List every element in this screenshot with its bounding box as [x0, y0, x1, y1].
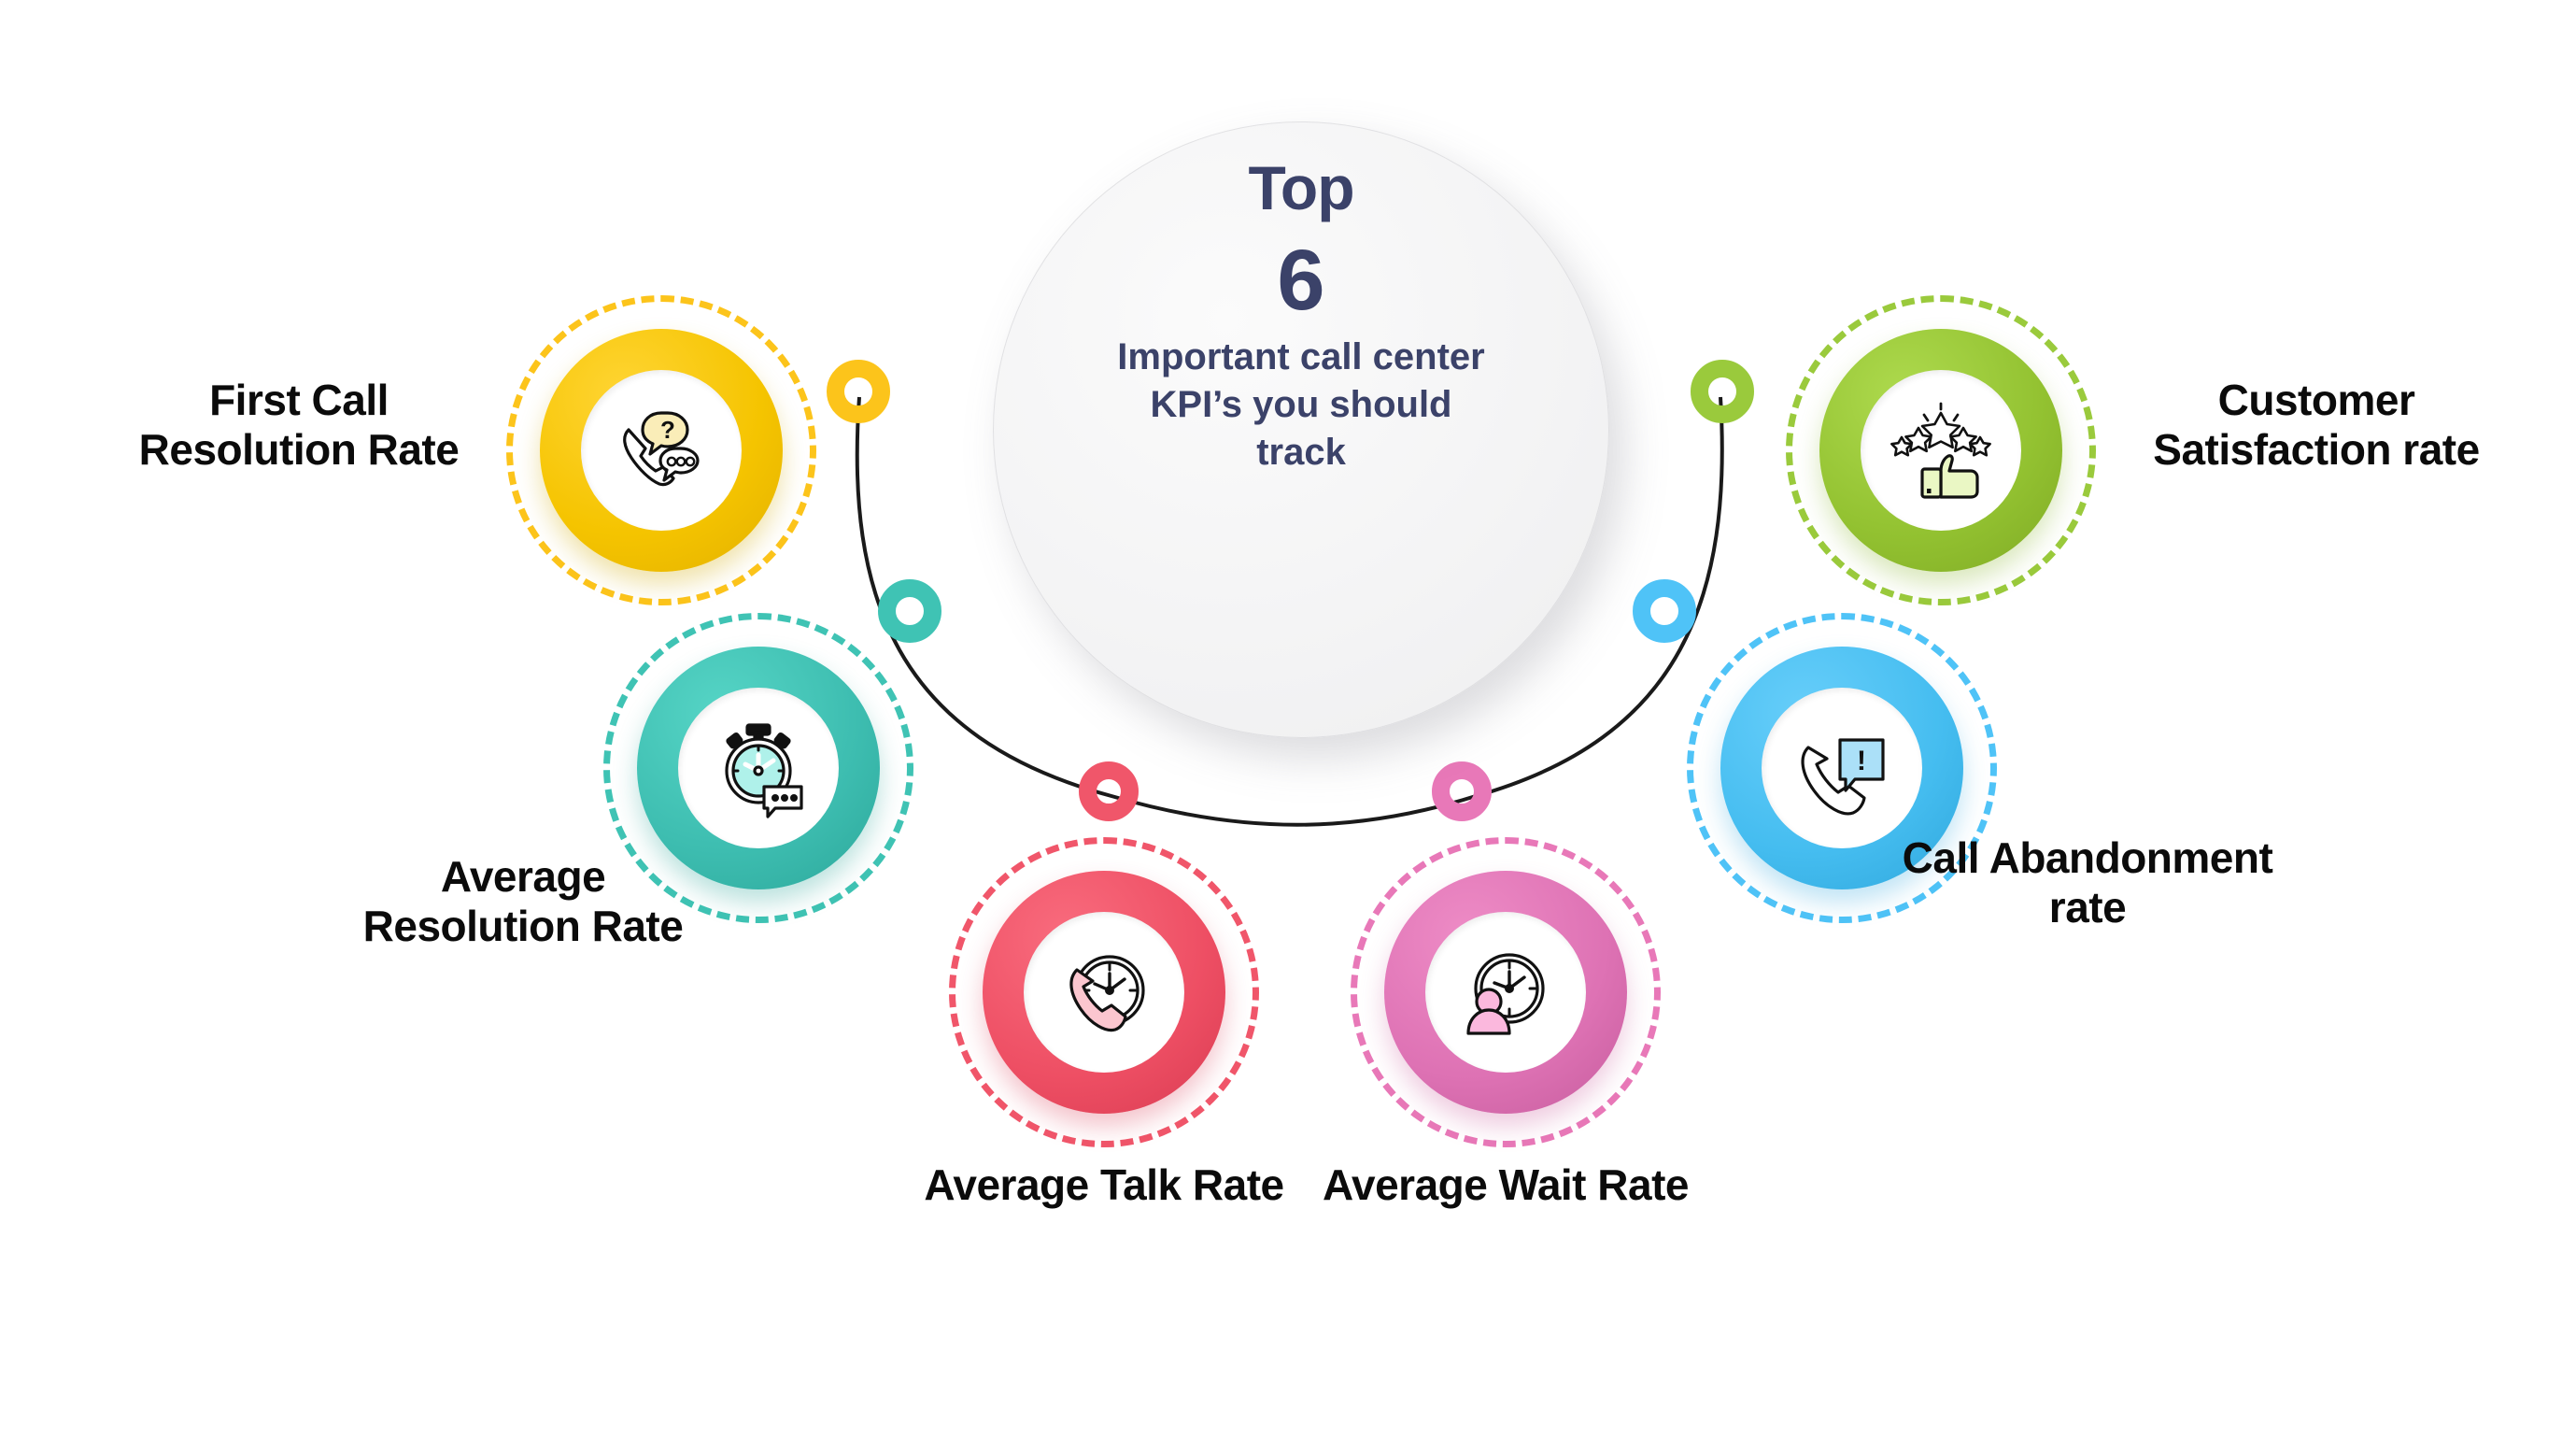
label-average-wait: Average Wait Rate: [1319, 1160, 1692, 1210]
central-hub: Top 6 Important call center KPI’s you sh…: [993, 121, 1609, 738]
icon-well-average-resolution: [678, 688, 839, 848]
person-clock-icon: [1450, 936, 1562, 1048]
ring-call-abandonment: [1633, 579, 1696, 643]
node-average-talk[interactable]: [983, 871, 1225, 1114]
phone-alert-icon: !: [1786, 712, 1898, 824]
node-first-call-resolution[interactable]: ?: [540, 329, 783, 572]
hub-top-word: Top: [1248, 157, 1353, 219]
stopwatch-chat-icon: [702, 712, 814, 824]
label-average-resolution: Average Resolution Rate: [336, 852, 710, 952]
node-average-wait[interactable]: [1384, 871, 1627, 1114]
hub-subtitle: Important call center KPI’s you should t…: [1105, 334, 1497, 477]
label-first-call-resolution: First Call Resolution Rate: [112, 376, 486, 476]
label-call-abandonment: Call Abandonment rate: [1887, 833, 2288, 933]
ring-average-talk: [1079, 761, 1139, 821]
icon-well-customer-satisfaction: [1861, 370, 2021, 531]
svg-text:!: !: [1857, 746, 1866, 776]
ring-average-resolution: [878, 579, 941, 643]
icon-well-average-talk: [1024, 912, 1184, 1073]
svg-text:?: ?: [660, 416, 675, 444]
icon-well-call-abandonment: !: [1762, 688, 1922, 848]
phone-question-chat-icon: ?: [605, 394, 717, 506]
ring-customer-satisfaction: [1691, 360, 1754, 423]
hub-number: 6: [1277, 235, 1324, 326]
label-average-talk: Average Talk Rate: [917, 1160, 1291, 1210]
ring-first-call-resolution: [827, 360, 890, 423]
stars-thumbsup-icon: [1885, 394, 1997, 506]
phone-clock-icon: [1048, 936, 1160, 1048]
node-customer-satisfaction[interactable]: [1819, 329, 2062, 572]
icon-well-average-wait: [1425, 912, 1586, 1073]
icon-well-first-call-resolution: ?: [581, 370, 742, 531]
infographic-canvas: ? First Call Resolution Rate: [0, 0, 2576, 1451]
label-customer-satisfaction: Customer Satisfaction rate: [2102, 376, 2531, 476]
ring-average-wait: [1432, 761, 1492, 821]
